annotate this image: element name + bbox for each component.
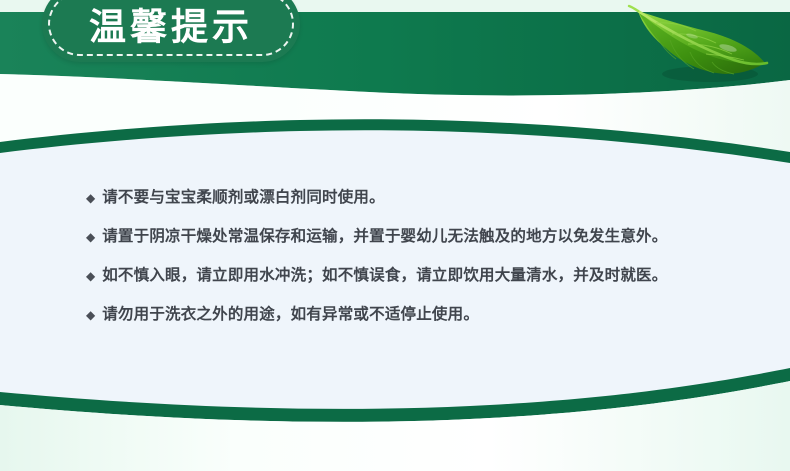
diamond-bullet-icon: ◆ <box>86 225 95 249</box>
list-item: ◆ 请不要与宝宝柔顺剂或漂白剂同时使用。 <box>86 186 746 210</box>
diamond-bullet-icon: ◆ <box>86 264 95 288</box>
notice-text: 请不要与宝宝柔顺剂或漂白剂同时使用。 <box>102 186 385 210</box>
notice-text: 请勿用于洗衣之外的用途，如有异常或不适停止使用。 <box>102 303 479 327</box>
notice-text: 如不慎入眼，请立即用水冲洗；如不慎误食，请立即饮用大量清水，并及时就医。 <box>102 264 667 288</box>
list-item: ◆ 请置于阴凉干燥处常温保存和运输，并置于婴幼儿无法触及的地方以免发生意外。 <box>86 225 746 249</box>
promo-notice-banner: 温馨提示 <box>0 0 790 471</box>
list-item: ◆ 如不慎入眼，请立即用水冲洗；如不慎误食，请立即饮用大量清水，并及时就医。 <box>86 264 746 288</box>
notice-text: 请置于阴凉干燥处常温保存和运输，并置于婴幼儿无法触及的地方以免发生意外。 <box>102 225 667 249</box>
leaf-icon <box>626 2 788 88</box>
page-title: 温馨提示 <box>42 9 300 46</box>
title-badge: 温馨提示 <box>42 0 300 62</box>
notice-list: ◆ 请不要与宝宝柔顺剂或漂白剂同时使用。 ◆ 请置于阴凉干燥处常温保存和运输，并… <box>86 186 746 327</box>
diamond-bullet-icon: ◆ <box>86 186 95 210</box>
list-item: ◆ 请勿用于洗衣之外的用途，如有异常或不适停止使用。 <box>86 303 746 327</box>
leaf-stalk <box>629 6 638 11</box>
diamond-bullet-icon: ◆ <box>86 303 95 327</box>
